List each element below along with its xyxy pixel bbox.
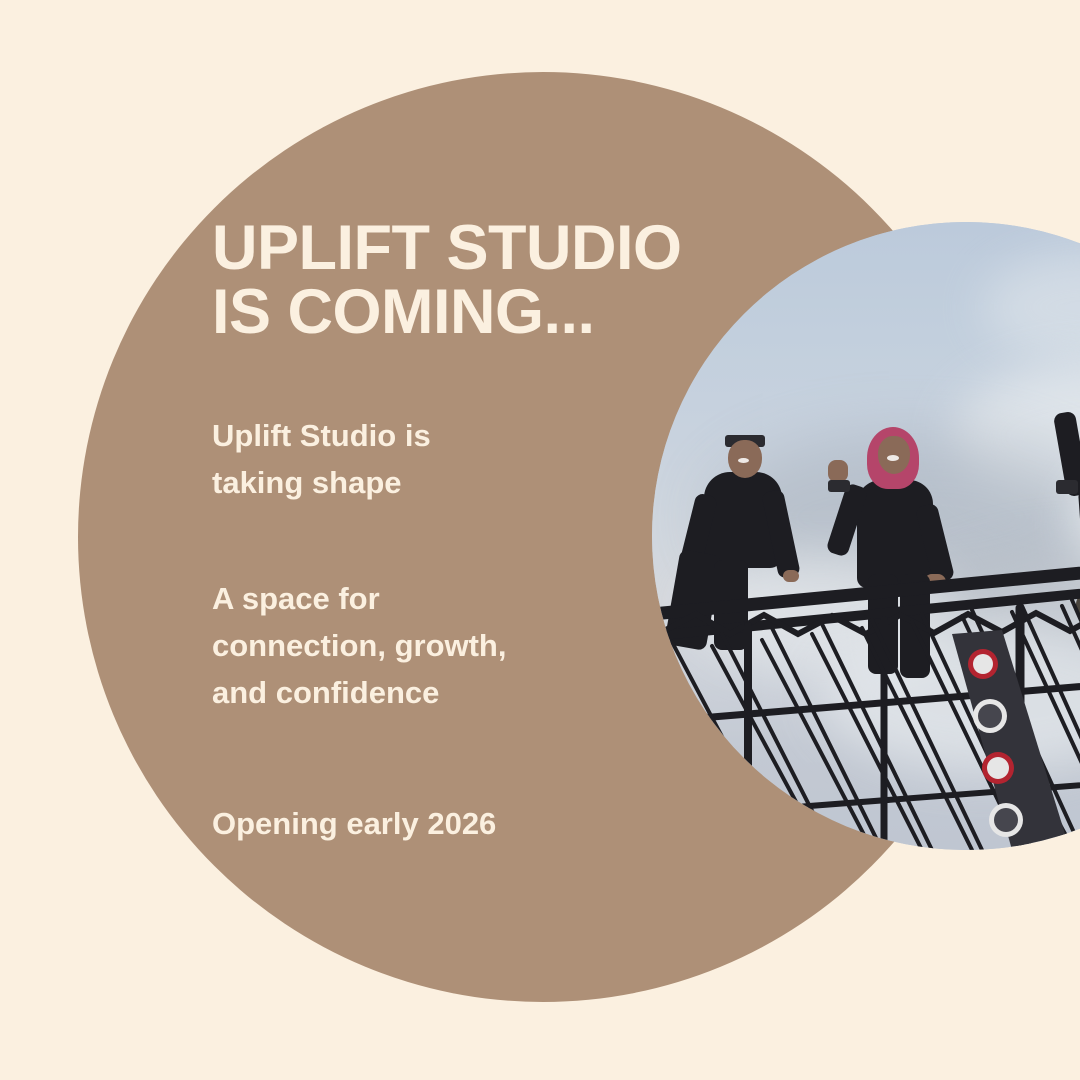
poster-canvas: UPLIFT STUDIO IS COMING... Uplift Studio… [0, 0, 1080, 1080]
text-content: UPLIFT STUDIO IS COMING... Uplift Studio… [212, 0, 772, 1080]
opening-paragraph: Opening early 2026 [212, 800, 496, 847]
promise-paragraph: A space for connection, growth, and conf… [212, 575, 507, 716]
page-title: UPLIFT STUDIO IS COMING... [212, 216, 681, 345]
tagline-paragraph: Uplift Studio is taking shape [212, 412, 431, 506]
